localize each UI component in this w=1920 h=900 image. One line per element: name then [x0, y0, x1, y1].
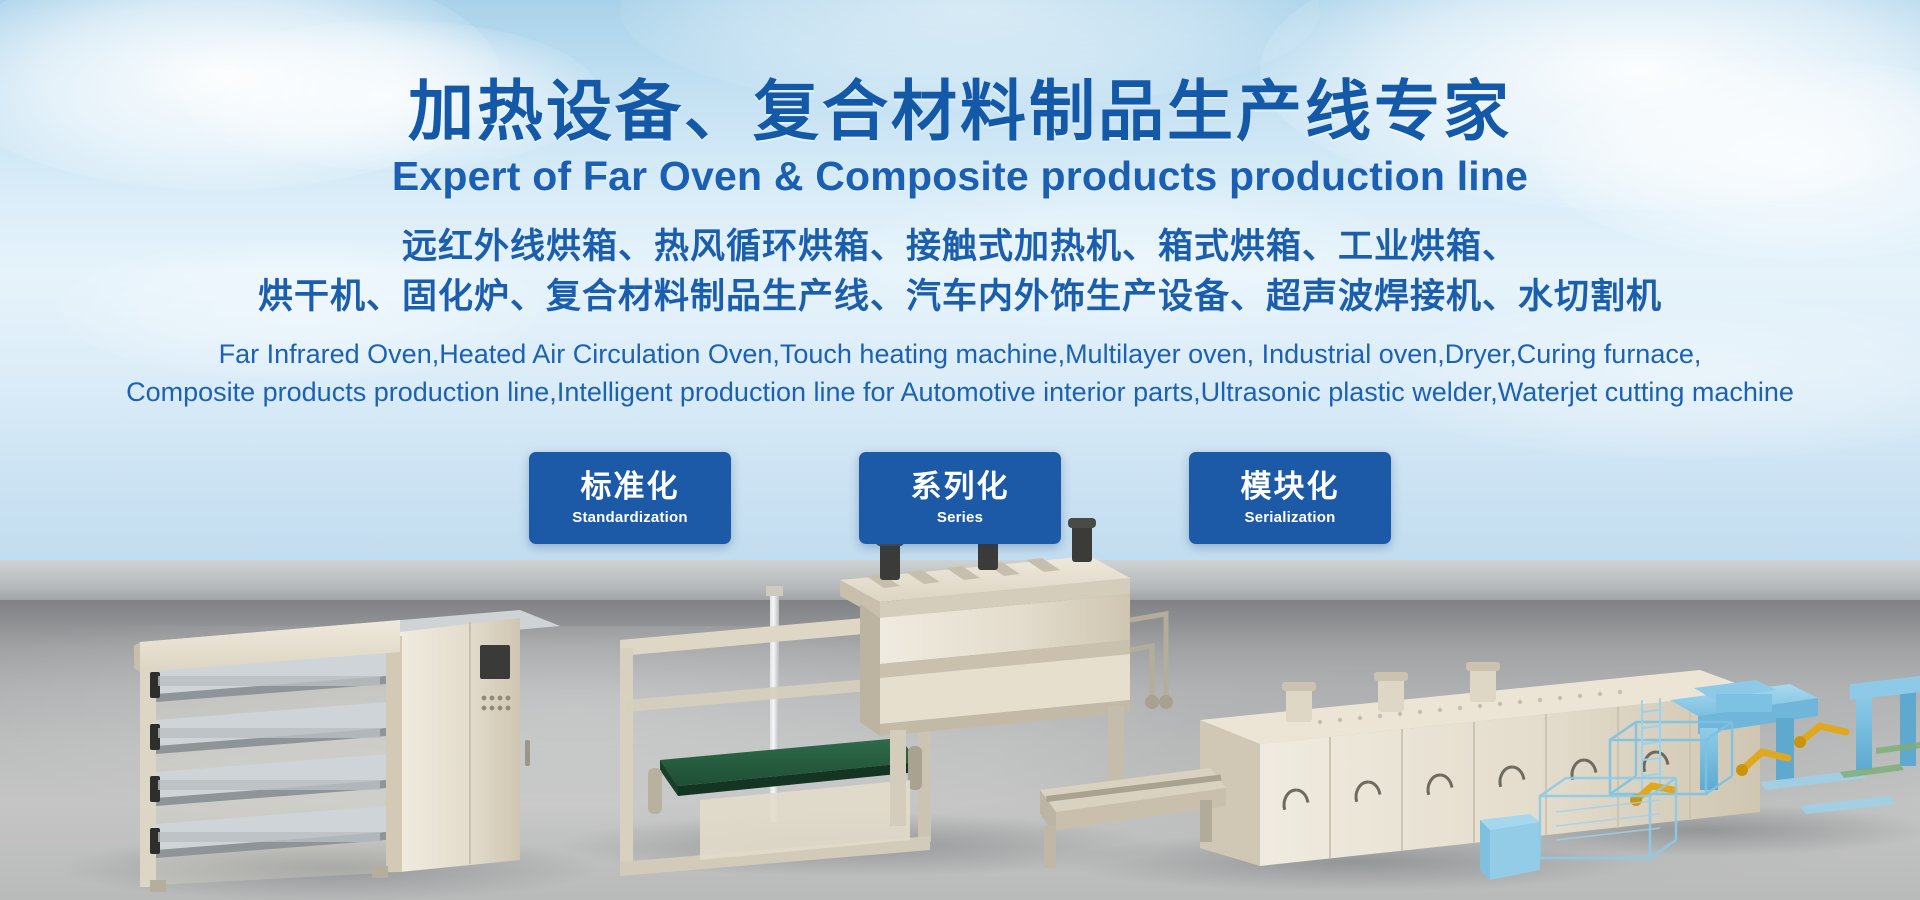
- badge-series[interactable]: 系列化 Series: [859, 452, 1061, 544]
- product-list-en-line1: Far Infrared Oven,Heated Air Circulation…: [0, 335, 1920, 373]
- badge-label-cn: 标准化: [581, 470, 680, 504]
- badge-standardization[interactable]: 标准化 Standardization: [529, 452, 731, 544]
- badge-serialization[interactable]: 模块化 Serialization: [1189, 452, 1391, 544]
- product-list-cn-line2: 烘干机、固化炉、复合材料制品生产线、汽车内外饰生产设备、超声波焊接机、水切割机: [0, 272, 1920, 323]
- marketing-banner: 多层箱式烘箱 1 2 3 4 加热设备、复合材料制品生产线专家 Expert o…: [0, 0, 1920, 900]
- page-title-cn: 加热设备、复合材料制品生产线专家: [0, 78, 1920, 147]
- product-list-en-line2: Composite products production line,Intel…: [0, 373, 1920, 411]
- badge-label-en: Series: [937, 509, 983, 526]
- multilayer-box-oven: [134, 610, 560, 892]
- feature-badge-group: 标准化 Standardization 系列化 Series 模块化 Seria…: [0, 452, 1920, 544]
- product-list-cn-line1: 远红外线烘箱、热风循环烘箱、接触式加热机、箱式烘箱、工业烘箱、: [0, 222, 1920, 273]
- page-title-en: Expert of Far Oven & Composite products …: [0, 153, 1920, 200]
- badge-label-cn: 模块化: [1241, 470, 1340, 504]
- badge-label-en: Standardization: [572, 509, 688, 526]
- badge-label-cn: 系列化: [911, 470, 1010, 504]
- banner-text-block: 加热设备、复合材料制品生产线专家 Expert of Far Oven & Co…: [0, 0, 1920, 412]
- badge-label-en: Serialization: [1245, 509, 1336, 526]
